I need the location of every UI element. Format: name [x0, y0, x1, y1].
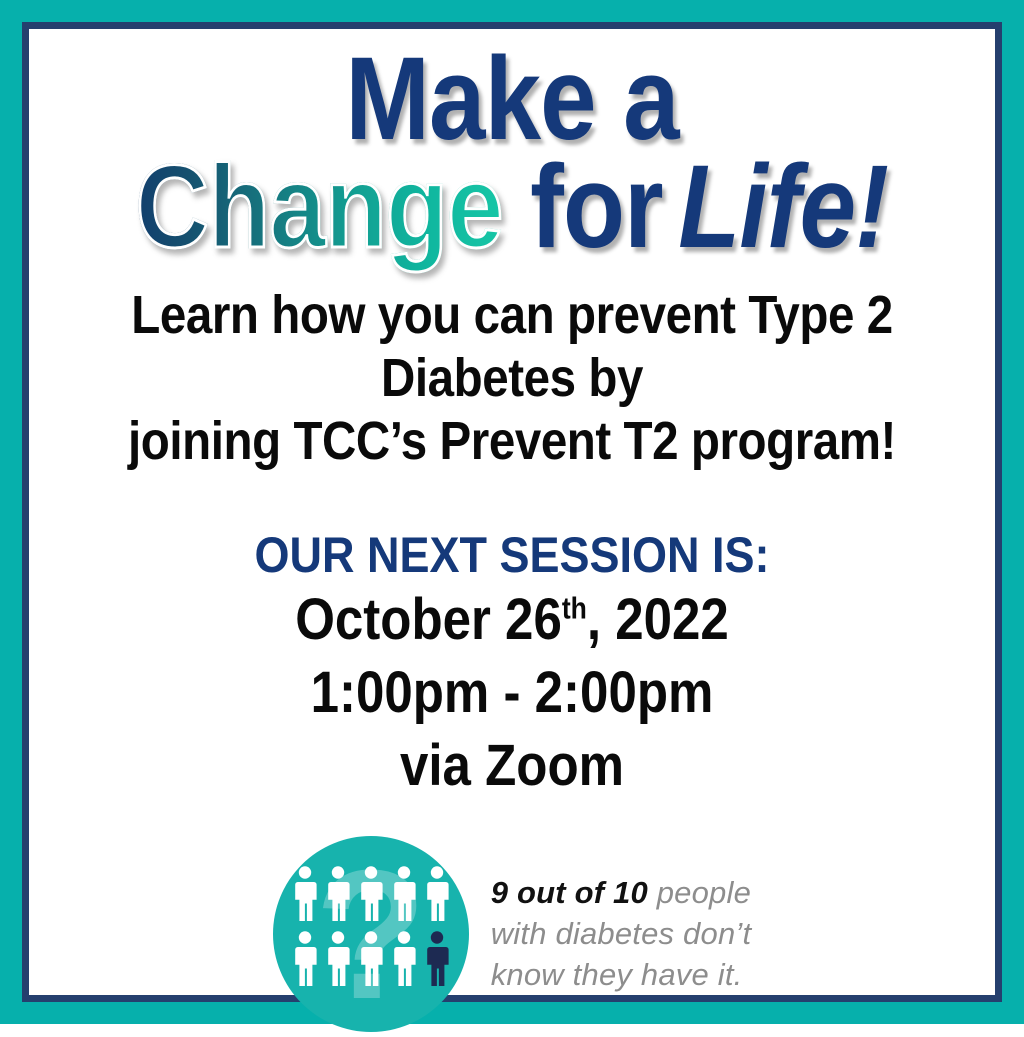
person-figure-white — [358, 930, 384, 986]
caption-line-2: with diabetes don’t — [491, 914, 752, 955]
subtitle: Learn how you can prevent Type 2 Diabete… — [90, 284, 935, 472]
session-date-ordinal: th — [562, 593, 587, 626]
session-time: 1:00pm - 2:00pm — [87, 656, 937, 729]
caption-line-1-rest: people — [648, 875, 751, 910]
headline-line-make-a: Make a — [97, 43, 928, 156]
question-mark-people-icon: ? — [273, 836, 469, 1032]
people-row-top — [292, 865, 450, 921]
people-row-bottom — [292, 930, 450, 986]
headline-word-life: Life! — [678, 141, 888, 273]
session-date-year: , 2022 — [587, 587, 729, 652]
poster-card: Make a Change forLife! Learn how you can… — [22, 22, 1002, 1002]
person-figure-white — [358, 865, 384, 921]
people-figures-group — [273, 836, 469, 1032]
person-figure-white — [325, 930, 351, 986]
headline-line-change-for-life: Change forLife! — [97, 148, 928, 266]
poster-background: Make a Change forLife! Learn how you can… — [0, 0, 1024, 1024]
person-figure-white — [391, 930, 417, 986]
headline-word-change: Change — [136, 141, 503, 273]
infographic: ? — [29, 836, 995, 1032]
headline-word-for — [503, 141, 530, 273]
person-figure-white — [292, 865, 318, 921]
headline: Make a Change forLife! — [29, 43, 995, 266]
person-figure-highlighted — [424, 930, 450, 986]
subtitle-line-2: joining TCC’s Prevent T2 program! — [90, 410, 935, 473]
session-date: October 26th, 2022 — [87, 583, 937, 656]
person-figure-white — [424, 865, 450, 921]
headline-word-for-text: for — [530, 141, 663, 273]
session-heading: OUR NEXT SESSION IS: — [77, 528, 946, 583]
session-details: OUR NEXT SESSION IS: October 26th, 2022 … — [29, 528, 995, 802]
person-figure-white — [292, 930, 318, 986]
infographic-caption: 9 out of 10 people with diabetes don’t k… — [491, 873, 752, 996]
caption-line-3: know they have it. — [491, 955, 752, 996]
caption-statistic: 9 out of 10 — [491, 875, 648, 910]
caption-line-1: 9 out of 10 people — [491, 873, 752, 914]
session-date-monthday: October 26 — [295, 587, 562, 652]
person-figure-white — [325, 865, 351, 921]
session-platform: via Zoom — [87, 729, 937, 802]
person-figure-white — [391, 865, 417, 921]
subtitle-line-1: Learn how you can prevent Type 2 Diabete… — [90, 284, 935, 409]
